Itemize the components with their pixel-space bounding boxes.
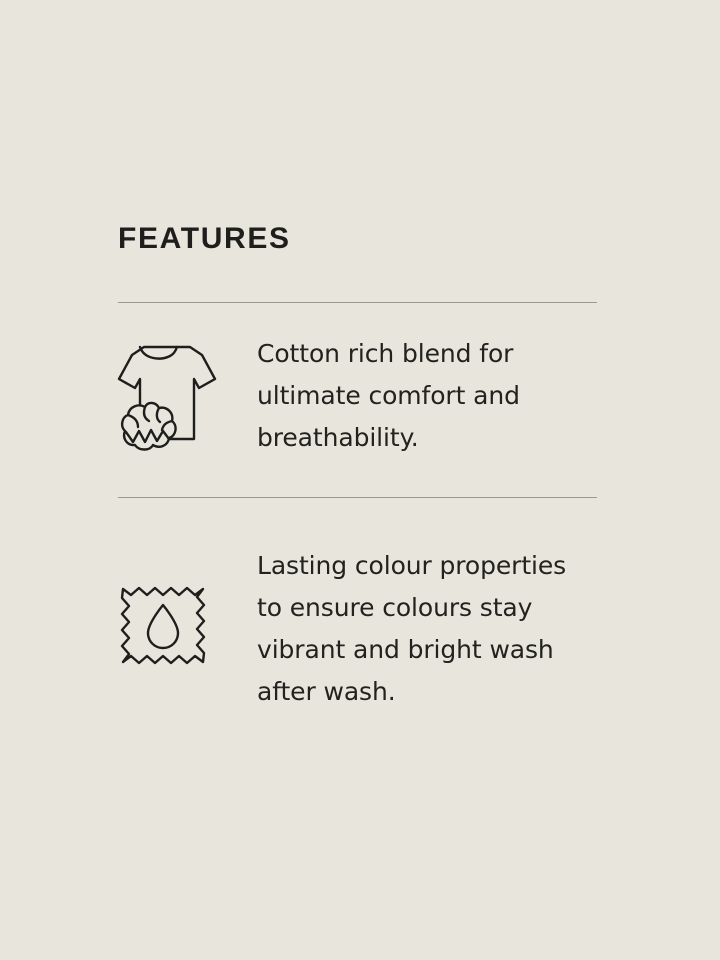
feature-icon-cell bbox=[118, 333, 257, 451]
features-page: FEATURES bbox=[0, 0, 720, 960]
feature-icon-cell bbox=[118, 545, 257, 668]
feature-item-cotton: Cotton rich blend for ultimate comfort a… bbox=[118, 303, 597, 497]
feature-description: Cotton rich blend for ultimate comfort a… bbox=[257, 333, 597, 459]
tshirt-cotton-boll-icon bbox=[118, 339, 214, 451]
page-title: FEATURES bbox=[118, 222, 598, 255]
features-section: FEATURES bbox=[118, 222, 598, 713]
fabric-swatch-droplet-icon bbox=[118, 583, 208, 668]
feature-item-colour: Lasting colour properties to ensure colo… bbox=[118, 498, 597, 713]
feature-description: Lasting colour properties to ensure colo… bbox=[257, 545, 597, 713]
